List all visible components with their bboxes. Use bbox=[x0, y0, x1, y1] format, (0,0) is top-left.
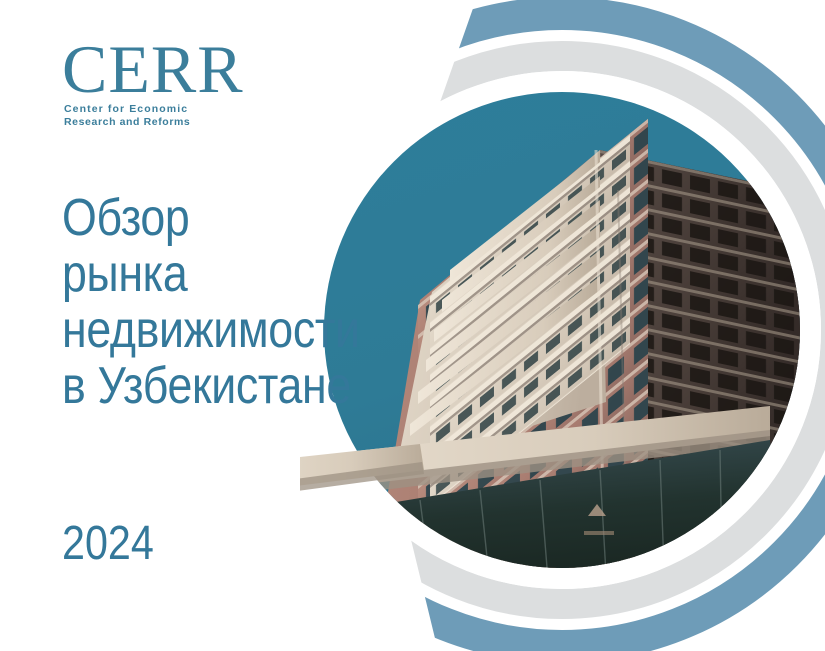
logo-tagline-line2: Research and Reforms bbox=[64, 116, 224, 129]
cover-title-line-4: в Узбекистане bbox=[62, 358, 354, 414]
report-cover: CERR Center for Economic Research and Re… bbox=[0, 0, 825, 651]
cover-title-line-1: Обзор bbox=[62, 190, 354, 246]
cover-title-line-2: рынка bbox=[62, 246, 354, 302]
logo-wordmark: CERR bbox=[62, 38, 362, 101]
cover-title-line-3: недвижимости bbox=[62, 302, 354, 358]
cover-title: Обзор рынка недвижимости в Узбекистане bbox=[62, 190, 402, 415]
cover-year: 2024 bbox=[62, 520, 154, 568]
cerr-logo: CERR Center for Economic Research and Re… bbox=[62, 38, 362, 129]
